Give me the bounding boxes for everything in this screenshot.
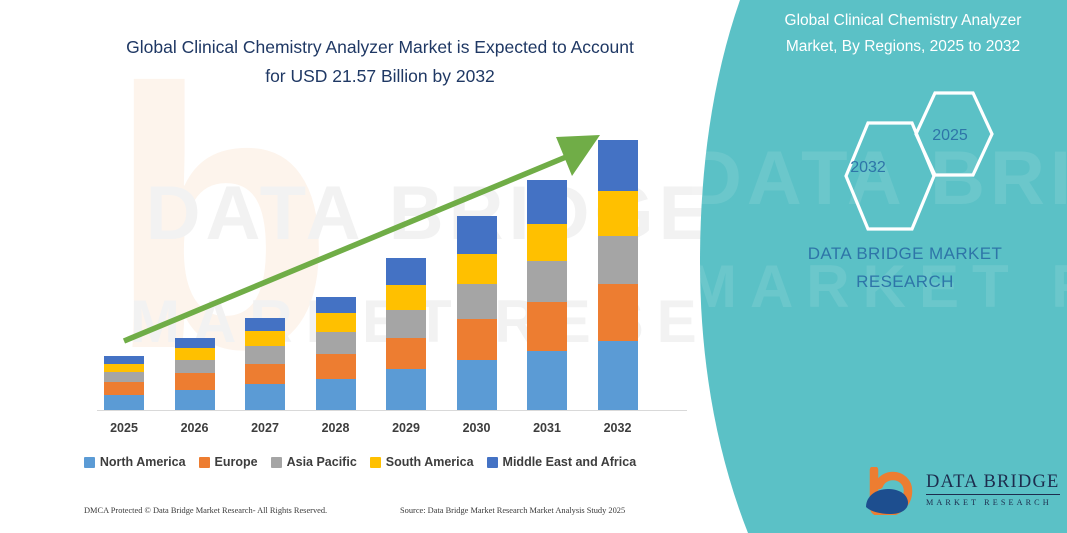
bar-segment[interactable] xyxy=(104,382,144,395)
legend-label: North America xyxy=(100,455,186,469)
bar-segment[interactable] xyxy=(175,390,215,410)
bar-segment[interactable] xyxy=(527,261,567,303)
bar-segment[interactable] xyxy=(104,356,144,364)
bar-segment[interactable] xyxy=(457,319,497,360)
x-axis-label-2030: 2030 xyxy=(442,421,512,435)
bar-segment[interactable] xyxy=(598,191,638,236)
legend-item[interactable]: North America xyxy=(84,455,186,469)
bar-segment[interactable] xyxy=(175,373,215,390)
x-axis-label-2026: 2026 xyxy=(160,421,230,435)
bar-segment[interactable] xyxy=(316,297,356,313)
bar-segment[interactable] xyxy=(386,285,426,310)
panel-subtitle-line-1: DATA BRIDGE MARKET xyxy=(755,240,1055,268)
panel-content: DATA BRIDGE MARKET RESEARCH Global Clini… xyxy=(735,0,1067,533)
bar-segment[interactable] xyxy=(386,310,426,338)
bar-2031[interactable] xyxy=(527,180,567,410)
bar-segment[interactable] xyxy=(598,140,638,191)
bar-segment[interactable] xyxy=(598,236,638,284)
bar-segment[interactable] xyxy=(245,318,285,331)
legend-swatch xyxy=(199,457,210,468)
x-axis-label-2027: 2027 xyxy=(230,421,300,435)
bar-segment[interactable] xyxy=(386,258,426,286)
bar-segment[interactable] xyxy=(245,331,285,346)
bar-segment[interactable] xyxy=(104,372,144,382)
bar-segment[interactable] xyxy=(527,224,567,261)
bar-segment[interactable] xyxy=(527,351,567,410)
legend-item[interactable]: South America xyxy=(370,455,474,469)
data-bridge-logo: DATA BRIDGE MARKET RESEARCH xyxy=(862,467,1062,519)
x-axis-label-2028: 2028 xyxy=(301,421,371,435)
chart-legend: North AmericaEuropeAsia PacificSouth Ame… xyxy=(0,455,720,469)
bar-segment[interactable] xyxy=(457,360,497,410)
chart-title: Global Clinical Chemistry Analyzer Marke… xyxy=(60,33,700,91)
bar-2032[interactable] xyxy=(598,140,638,410)
logo-line-2: MARKET RESEARCH xyxy=(926,498,1060,507)
bar-segment[interactable] xyxy=(316,354,356,380)
logo-line-1: DATA BRIDGE xyxy=(926,472,1060,495)
legend-swatch xyxy=(370,457,381,468)
hexagon-2025-label: 2025 xyxy=(917,127,983,145)
bar-segment[interactable] xyxy=(175,348,215,360)
bar-segment[interactable] xyxy=(457,254,497,285)
bar-segment[interactable] xyxy=(175,338,215,348)
bar-segment[interactable] xyxy=(316,332,356,354)
bar-segment[interactable] xyxy=(245,346,285,364)
bar-segment[interactable] xyxy=(316,313,356,332)
x-axis-label-2032: 2032 xyxy=(583,421,653,435)
logo-text: DATA BRIDGE MARKET RESEARCH xyxy=(926,472,1060,507)
logo-mark-icon xyxy=(862,467,922,515)
bar-segment[interactable] xyxy=(104,364,144,373)
legend-label: Middle East and Africa xyxy=(503,455,637,469)
legend-label: Asia Pacific xyxy=(287,455,357,469)
bar-segment[interactable] xyxy=(457,216,497,254)
bar-segment[interactable] xyxy=(175,360,215,374)
hexagon-2032-label: 2032 xyxy=(830,159,906,177)
bar-segment[interactable] xyxy=(598,284,638,340)
bar-segment[interactable] xyxy=(245,384,285,410)
legend-swatch xyxy=(84,457,95,468)
footer-source: Source: Data Bridge Market Research Mark… xyxy=(400,506,625,515)
bar-segment[interactable] xyxy=(386,338,426,370)
bar-2025[interactable] xyxy=(104,356,144,410)
bar-2026[interactable] xyxy=(175,338,215,410)
hexagon-shapes xyxy=(735,0,1067,240)
legend-label: Europe xyxy=(215,455,258,469)
x-axis-label-2025: 2025 xyxy=(89,421,159,435)
hexagon-group: 2032 2025 xyxy=(735,0,1067,240)
x-axis-line xyxy=(97,410,687,411)
bar-segment[interactable] xyxy=(104,395,144,410)
bar-segment[interactable] xyxy=(316,379,356,410)
bar-segment[interactable] xyxy=(598,341,638,410)
chart-title-line-2: for USD 21.57 Billion by 2032 xyxy=(60,62,700,91)
legend-item[interactable]: Asia Pacific xyxy=(271,455,357,469)
panel-subtitle: DATA BRIDGE MARKET RESEARCH xyxy=(755,240,1055,296)
bar-segment[interactable] xyxy=(527,180,567,224)
bar-2027[interactable] xyxy=(245,318,285,410)
footer-dmca: DMCA Protected © Data Bridge Market Rese… xyxy=(84,506,327,515)
x-axis-label-2031: 2031 xyxy=(512,421,582,435)
x-axis-label-2029: 2029 xyxy=(371,421,441,435)
legend-item[interactable]: Middle East and Africa xyxy=(487,455,637,469)
bar-segment[interactable] xyxy=(245,364,285,385)
infographic-canvas: b DATA BRIDGE MARKET RESEARCH Global Cli… xyxy=(0,0,1067,533)
panel-subtitle-line-2: RESEARCH xyxy=(755,268,1055,296)
bar-2030[interactable] xyxy=(457,216,497,410)
legend-swatch xyxy=(487,457,498,468)
bar-segment[interactable] xyxy=(386,369,426,410)
bar-2028[interactable] xyxy=(316,297,356,410)
bar-segment[interactable] xyxy=(457,284,497,319)
legend-label: South America xyxy=(386,455,474,469)
bar-2029[interactable] xyxy=(386,258,426,410)
legend-swatch xyxy=(271,457,282,468)
bar-segment[interactable] xyxy=(527,302,567,350)
chart-title-line-1: Global Clinical Chemistry Analyzer Marke… xyxy=(60,33,700,62)
legend-item[interactable]: Europe xyxy=(199,455,258,469)
